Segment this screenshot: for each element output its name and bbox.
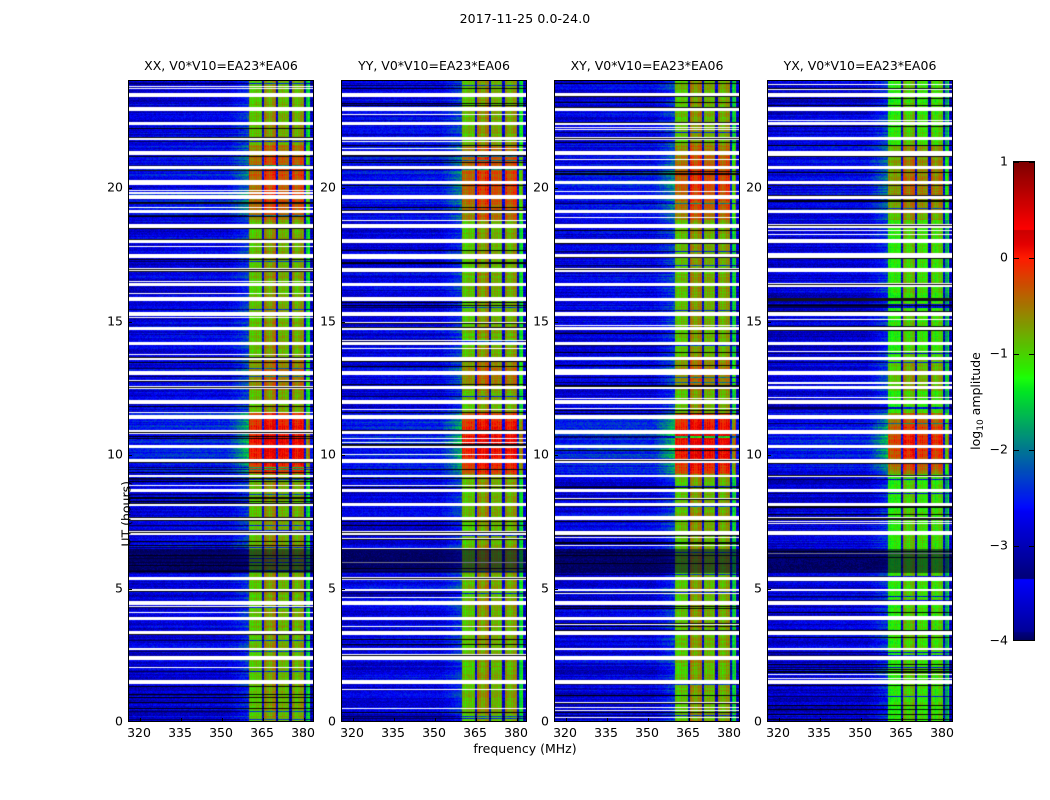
x-tick-label: 335 xyxy=(381,725,405,740)
x-tick xyxy=(222,718,223,722)
y-tick-label: 5 xyxy=(328,581,336,596)
x-tick xyxy=(607,718,608,722)
colorbar-tick xyxy=(1014,258,1019,259)
x-tick-label: 380 xyxy=(930,725,954,740)
x-tick-label: 335 xyxy=(594,725,618,740)
x-tick xyxy=(779,718,780,722)
y-tick-label: 10 xyxy=(107,447,123,462)
x-tick-label: 320 xyxy=(766,725,790,740)
colorbar-tick xyxy=(1014,546,1019,547)
x-tick xyxy=(140,718,141,722)
colorbar-tick xyxy=(1014,354,1019,355)
y-tick-label: 15 xyxy=(107,314,123,329)
x-tick-label: 320 xyxy=(553,725,577,740)
x-tick-label: 350 xyxy=(848,725,872,740)
y-tick xyxy=(341,322,345,323)
x-tick-label: 365 xyxy=(463,725,487,740)
colorbar-tick xyxy=(1014,162,1019,163)
y-tick xyxy=(767,322,771,323)
y-tick-label: 15 xyxy=(533,314,549,329)
colorbar-tick-label: −4 xyxy=(990,633,1008,648)
panel-title-xy: XY, V0*V10=EA23*EA06 xyxy=(571,58,724,73)
y-tick xyxy=(554,455,558,456)
panel-yx: YX, V0*V10=EA23*EA06 3203353503653800510… xyxy=(767,80,953,722)
x-tick xyxy=(861,718,862,722)
colorbar-tick xyxy=(1029,258,1034,259)
x-tick-label: 335 xyxy=(807,725,831,740)
x-tick-label: 320 xyxy=(340,725,364,740)
colorbar-label-tail: amplitude xyxy=(968,352,983,419)
panel-yy: YY, V0*V10=EA23*EA06 3203353503653800510… xyxy=(341,80,527,722)
y-tick xyxy=(341,455,345,456)
y-tick xyxy=(128,455,132,456)
heatmap-canvas-yy xyxy=(342,81,527,722)
x-tick xyxy=(181,718,182,722)
panel-title-xx: XX, V0*V10=EA23*EA06 xyxy=(144,58,298,73)
y-tick-label: 5 xyxy=(115,581,123,596)
x-tick xyxy=(566,718,567,722)
colorbar: log10 amplitude 10−1−2−3−4 xyxy=(1013,161,1035,641)
x-tick-label: 365 xyxy=(676,725,700,740)
x-tick-label: 320 xyxy=(127,725,151,740)
panel-xx: XX, V0*V10=EA23*EA06 UT (hours) 32033535… xyxy=(128,80,314,722)
y-tick-label: 5 xyxy=(754,581,762,596)
y-tick-label: 10 xyxy=(746,447,762,462)
x-tick xyxy=(820,718,821,722)
y-axis-label: UT (hours) xyxy=(119,481,134,547)
colorbar-tick-label: 1 xyxy=(1000,154,1008,169)
x-tick-label: 380 xyxy=(291,725,315,740)
colorbar-tick-label: −1 xyxy=(990,346,1008,361)
x-tick xyxy=(730,718,731,722)
y-tick xyxy=(128,188,132,189)
heatmap-canvas-xy xyxy=(555,81,740,722)
x-tick-label: 350 xyxy=(422,725,446,740)
y-tick-label: 20 xyxy=(533,180,549,195)
heatmap-canvas-yx xyxy=(768,81,953,722)
panel-xy: XY, V0*V10=EA23*EA06 3203353503653800510… xyxy=(554,80,740,722)
colorbar-label-sub: 10 xyxy=(976,419,986,430)
x-tick-label: 365 xyxy=(889,725,913,740)
heatmap-yx xyxy=(767,80,953,722)
y-tick xyxy=(341,188,345,189)
y-tick xyxy=(767,455,771,456)
y-tick-label: 20 xyxy=(746,180,762,195)
x-tick xyxy=(517,718,518,722)
y-tick-label: 10 xyxy=(320,447,336,462)
x-tick xyxy=(648,718,649,722)
x-tick xyxy=(353,718,354,722)
y-tick-label: 15 xyxy=(746,314,762,329)
y-tick-label: 0 xyxy=(754,714,762,729)
colorbar-tick-label: −2 xyxy=(990,442,1008,457)
figure-suptitle: 2017-11-25 0.0-24.0 xyxy=(0,11,1050,26)
x-tick xyxy=(902,718,903,722)
colorbar-tick-label: −3 xyxy=(990,538,1008,553)
colorbar-canvas xyxy=(1014,162,1035,641)
y-tick xyxy=(554,322,558,323)
x-tick xyxy=(435,718,436,722)
y-tick xyxy=(341,589,345,590)
y-tick-label: 0 xyxy=(328,714,336,729)
y-tick xyxy=(767,188,771,189)
panel-title-yx: YX, V0*V10=EA23*EA06 xyxy=(784,58,937,73)
y-tick xyxy=(128,589,132,590)
y-tick xyxy=(554,589,558,590)
x-tick xyxy=(263,718,264,722)
panel-title-yy: YY, V0*V10=EA23*EA06 xyxy=(358,58,510,73)
colorbar-gradient xyxy=(1013,161,1035,641)
colorbar-tick xyxy=(1014,450,1019,451)
x-tick-label: 365 xyxy=(250,725,274,740)
y-tick xyxy=(767,589,771,590)
colorbar-tick xyxy=(1029,162,1034,163)
x-tick-label: 335 xyxy=(168,725,192,740)
y-tick xyxy=(128,322,132,323)
x-tick xyxy=(943,718,944,722)
x-tick xyxy=(476,718,477,722)
x-tick-label: 380 xyxy=(717,725,741,740)
colorbar-tick xyxy=(1029,354,1034,355)
x-tick-label: 380 xyxy=(504,725,528,740)
heatmap-xx xyxy=(128,80,314,722)
x-tick-label: 350 xyxy=(209,725,233,740)
y-tick-label: 0 xyxy=(541,714,549,729)
heatmap-xy xyxy=(554,80,740,722)
x-tick xyxy=(689,718,690,722)
heatmap-yy xyxy=(341,80,527,722)
figure-canvas: 2017-11-25 0.0-24.0 XX, V0*V10=EA23*EA06… xyxy=(0,0,1050,800)
colorbar-label-main: log xyxy=(968,431,983,450)
colorbar-tick xyxy=(1029,546,1034,547)
y-tick-label: 20 xyxy=(320,180,336,195)
heatmap-canvas-xx xyxy=(129,81,314,722)
x-tick xyxy=(394,718,395,722)
y-tick-label: 15 xyxy=(320,314,336,329)
colorbar-tick xyxy=(1029,450,1034,451)
y-tick-label: 0 xyxy=(115,714,123,729)
y-tick-label: 10 xyxy=(533,447,549,462)
x-tick-label: 350 xyxy=(635,725,659,740)
y-tick-label: 5 xyxy=(541,581,549,596)
y-tick-label: 20 xyxy=(107,180,123,195)
y-tick xyxy=(554,188,558,189)
x-axis-label: frequency (MHz) xyxy=(435,741,615,756)
x-tick xyxy=(304,718,305,722)
colorbar-label: log10 amplitude xyxy=(968,352,986,450)
colorbar-tick-label: 0 xyxy=(1000,250,1008,265)
